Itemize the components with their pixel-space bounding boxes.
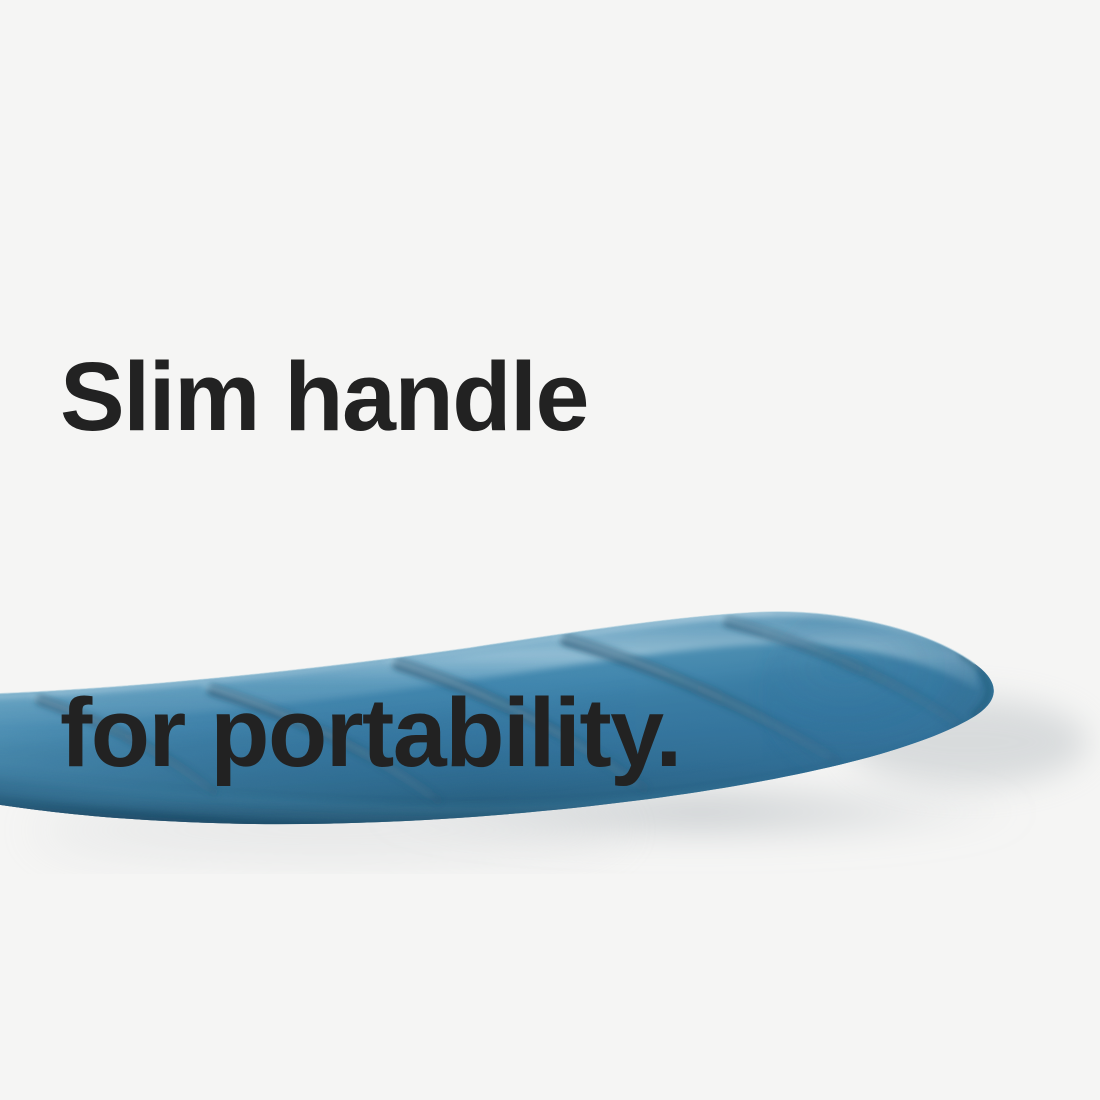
headline: Slim handle for portability. xyxy=(60,117,960,1013)
headline-line-1: Slim handle xyxy=(60,341,960,453)
headline-line-2: for portability. xyxy=(60,677,960,789)
product-marketing-image: Slim handle for portability. xyxy=(0,0,1100,1100)
